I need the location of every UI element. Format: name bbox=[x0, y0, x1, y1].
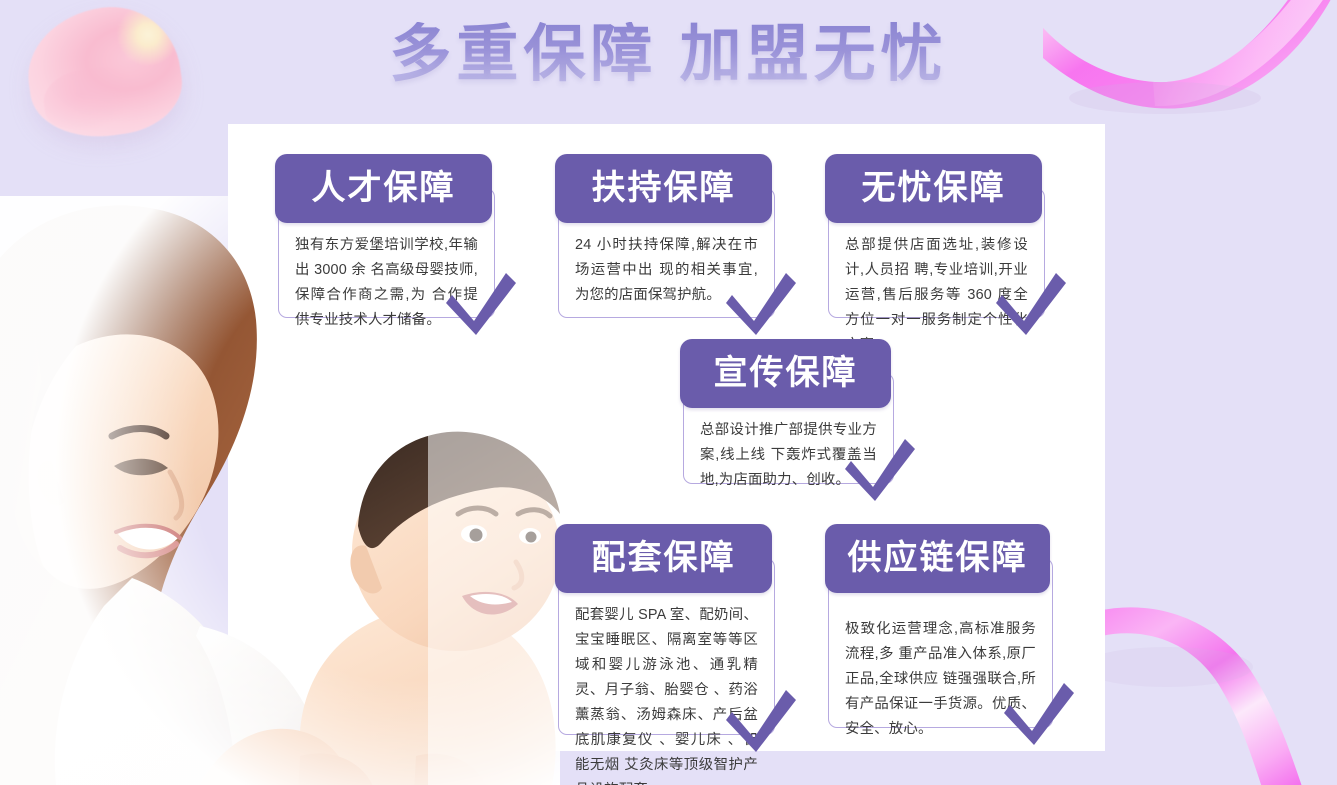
card-title-talent: 人才保障 bbox=[275, 154, 492, 223]
card-title-support: 扶持保障 bbox=[555, 154, 772, 223]
guarantee-card-support: 扶持保障 24 小时扶持保障,解决在市场运营中出 现的相关事宜,为您的店面保驾护… bbox=[558, 188, 775, 318]
guarantee-card-talent: 人才保障 独有东方爱堡培训学校,年输出 3000 余 名高级母婴技师,保障合作商… bbox=[278, 188, 495, 318]
ribbon-bottom-right-icon bbox=[1097, 571, 1337, 785]
card-title-facilities: 配套保障 bbox=[555, 524, 772, 593]
guarantee-card-worry-free: 无忧保障 总部提供店面选址,装修设计,人员招 聘,专业培训,开业运营,售后服务等… bbox=[828, 188, 1045, 318]
page-title: 多重保障 加盟无忧 bbox=[0, 22, 1337, 89]
card-title-supply-chain: 供应链保障 bbox=[825, 524, 1050, 593]
poster-canvas: 多重保障 加盟无忧 bbox=[0, 0, 1337, 785]
card-title-worry-free: 无忧保障 bbox=[825, 154, 1042, 223]
guarantee-card-facilities: 配套保障 配套婴儿 SPA 室、配奶间、宝宝睡眠区、隔离室等等区域和婴儿游泳池、… bbox=[558, 558, 775, 735]
guarantee-card-promotion: 宣传保障 总部设计推广部提供专业方案,线上线 下轰炸式覆盖当地,为店面助力、创收… bbox=[683, 373, 894, 484]
guarantee-card-supply-chain: 供应链保障 极致化运营理念,高标准服务流程,多 重产品准入体系,原厂正品,全球供… bbox=[828, 558, 1053, 728]
card-title-promotion: 宣传保障 bbox=[680, 339, 891, 408]
